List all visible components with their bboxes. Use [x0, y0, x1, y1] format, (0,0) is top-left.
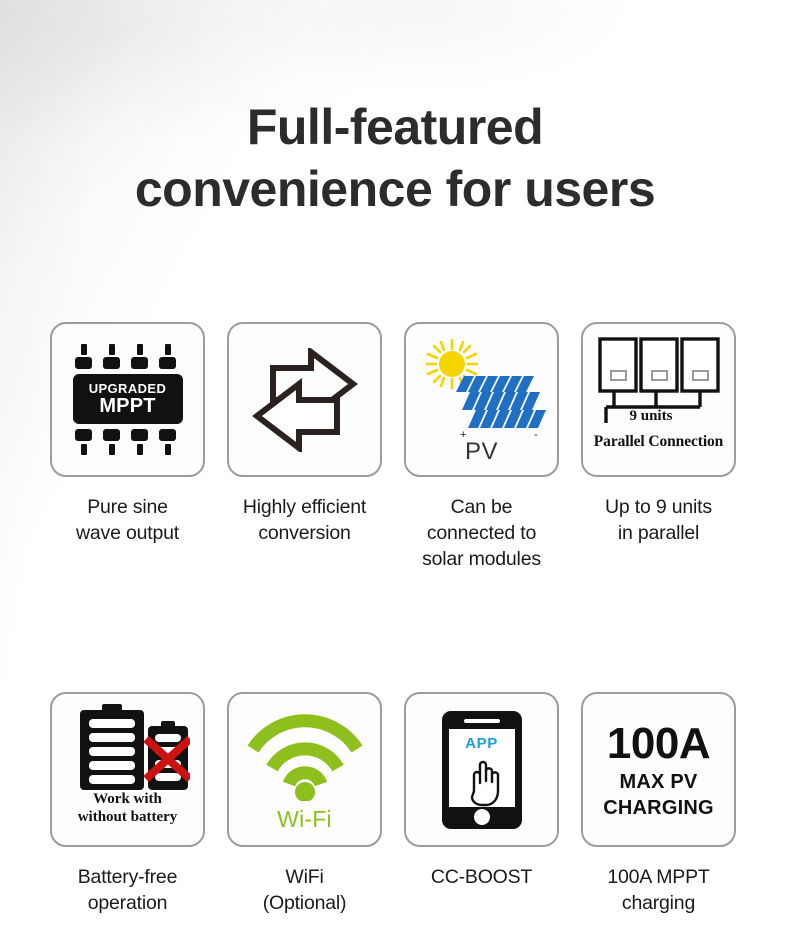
- caption-line: Highly efficient: [243, 494, 366, 520]
- battery-caption: Work with without battery: [60, 790, 196, 826]
- feature-caption-mppt-charging: 100A MPPT charging: [607, 864, 709, 916]
- feature-caption-conversion: Highly efficient conversion: [243, 494, 366, 546]
- feature-card-wifi[interactable]: Wi-Fi: [227, 692, 382, 847]
- battery-caption-line-2: without battery: [60, 808, 196, 826]
- feature-item-parallel[interactable]: 9 units Parallel Connection Up to 9 unit…: [581, 322, 736, 572]
- solar-panel-sun-icon: + - PV: [416, 338, 548, 462]
- max-pv-charging-text-icon: 100A MAX PV CHARGING: [603, 722, 714, 818]
- feature-card-battery-free[interactable]: Work with without battery: [50, 692, 205, 847]
- caption-line: in parallel: [605, 520, 712, 546]
- caption-line: charging: [607, 890, 709, 916]
- parallel-units-count: 9 units: [630, 408, 673, 425]
- mppt-chip-top-text: UPGRADED: [89, 382, 167, 396]
- caption-line: Battery-free: [78, 864, 177, 890]
- feature-caption-battery-free: Battery-free operation: [78, 864, 177, 916]
- pv-label: PV: [416, 438, 548, 466]
- feature-item-mppt[interactable]: UPGRADED MPPT: [50, 322, 205, 572]
- wifi-icon: Wi-Fi: [246, 709, 364, 831]
- mppt-chip-icon: UPGRADED MPPT: [69, 344, 187, 456]
- phone-graphic: [439, 709, 525, 831]
- battery-caption-line-1: Work with: [60, 790, 196, 808]
- feature-row-2: Work with without battery Battery-free o…: [50, 692, 742, 916]
- feature-item-cc-boost[interactable]: APP CC-BOOST: [404, 692, 559, 916]
- bidirectional-arrows-icon: [249, 348, 361, 452]
- amp-value: 100A: [603, 722, 714, 766]
- smartphone-app-icon: APP: [439, 709, 525, 831]
- feature-card-pv[interactable]: + - PV: [404, 322, 559, 477]
- feature-card-cc-boost[interactable]: APP: [404, 692, 559, 847]
- caption-line: Pure sine: [76, 494, 179, 520]
- caption-line: (Optional): [263, 890, 347, 916]
- caption-line: conversion: [243, 520, 366, 546]
- feature-card-mppt-charging[interactable]: 100A MAX PV CHARGING: [581, 692, 736, 847]
- caption-line: 100A MPPT: [607, 864, 709, 890]
- page-title-line-1: Full-featured: [0, 96, 790, 158]
- page-title: Full-featured convenience for users: [0, 96, 790, 220]
- page-title-line-2: convenience for users: [0, 158, 790, 220]
- pv-graphic: + -: [416, 338, 548, 446]
- feature-item-wifi[interactable]: Wi-Fi WiFi (Optional): [227, 692, 382, 916]
- feature-item-conversion[interactable]: Highly efficient conversion: [227, 322, 382, 572]
- mppt-chip-bottom-text: MPPT: [99, 396, 155, 416]
- feature-card-conversion[interactable]: [227, 322, 382, 477]
- amp-subtitle-2: CHARGING: [603, 798, 714, 818]
- caption-line: connected to: [422, 520, 541, 546]
- parallel-connection-icon: 9 units Parallel Connection: [590, 335, 728, 465]
- caption-line: WiFi: [263, 864, 347, 890]
- wifi-label: Wi-Fi: [246, 806, 364, 833]
- feature-card-parallel[interactable]: 9 units Parallel Connection: [581, 322, 736, 477]
- feature-caption-pv: Can be connected to solar modules: [422, 494, 541, 572]
- feature-showcase-page: Full-featured convenience for users: [0, 0, 790, 934]
- feature-grid: UPGRADED MPPT: [50, 322, 742, 916]
- phone-home-button: [474, 809, 490, 825]
- app-label: APP: [439, 735, 525, 752]
- wifi-dot: [295, 782, 315, 801]
- amp-subtitle-1: MAX PV: [603, 772, 714, 792]
- battery-crossed-icon: Work with without battery: [66, 704, 190, 836]
- wifi-waves-graphic: [246, 709, 364, 801]
- feature-item-pv[interactable]: + - PV Can be connected to solar modules: [404, 322, 559, 572]
- battery-graphic: [66, 704, 190, 790]
- caption-line: Up to 9 units: [605, 494, 712, 520]
- feature-caption-mppt: Pure sine wave output: [76, 494, 179, 546]
- feature-caption-wifi: WiFi (Optional): [263, 864, 347, 916]
- caption-line: solar modules: [422, 546, 541, 572]
- parallel-connection-title: Parallel Connection: [590, 433, 728, 451]
- feature-caption-cc-boost: CC-BOOST: [431, 864, 532, 890]
- feature-item-battery-free[interactable]: Work with without battery Battery-free o…: [50, 692, 205, 916]
- solar-panel-cells: [456, 376, 546, 428]
- feature-row-1: UPGRADED MPPT: [50, 322, 742, 572]
- battery-full-icon: [80, 704, 144, 790]
- feature-card-mppt[interactable]: UPGRADED MPPT: [50, 322, 205, 477]
- mppt-chip-body: UPGRADED MPPT: [73, 374, 183, 424]
- sun-disc: [439, 351, 465, 377]
- feature-caption-parallel: Up to 9 units in parallel: [605, 494, 712, 546]
- caption-line: operation: [78, 890, 177, 916]
- caption-line: CC-BOOST: [431, 864, 532, 890]
- phone-speaker: [464, 719, 500, 723]
- caption-line: wave output: [76, 520, 179, 546]
- caption-line: Can be: [422, 494, 541, 520]
- feature-item-mppt-charging[interactable]: 100A MAX PV CHARGING 100A MPPT charging: [581, 692, 736, 916]
